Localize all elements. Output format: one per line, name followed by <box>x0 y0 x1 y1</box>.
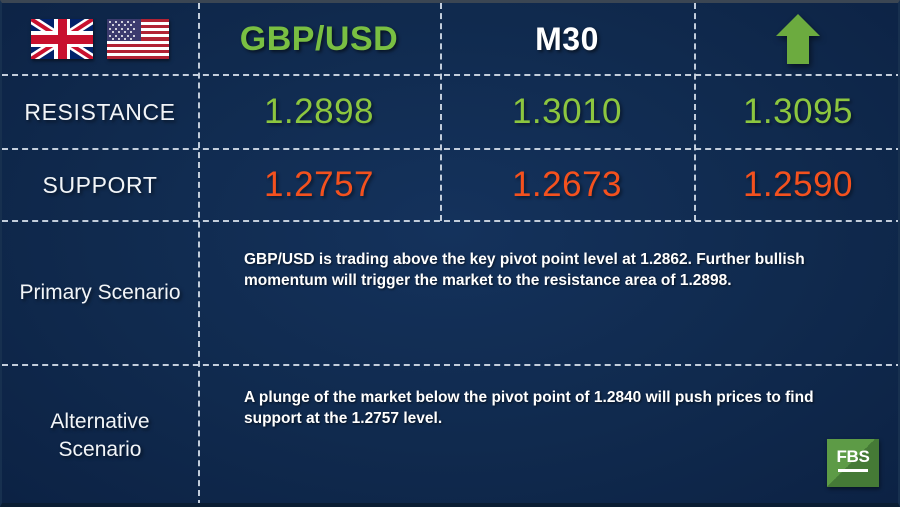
primary-scenario-text-cell: GBP/USD is trading above the key pivot p… <box>198 221 900 365</box>
resistance-value-2: 1.3010 <box>512 92 622 132</box>
support-value-1-cell: 1.2757 <box>198 149 440 221</box>
support-value-3-cell: 1.2590 <box>694 149 900 221</box>
fbs-logo-underline <box>838 469 868 472</box>
us-flag-canton <box>107 19 141 41</box>
fbs-logo-mark: FBS <box>827 448 879 472</box>
timeframe-label: M30 <box>535 21 599 58</box>
support-label-cell: SUPPORT <box>2 149 198 221</box>
alternative-scenario-label-line2: Scenario <box>59 438 142 461</box>
currency-pair-label: GBP/USD <box>240 20 398 59</box>
resistance-label-cell: RESISTANCE <box>2 75 198 149</box>
arrow-up-icon <box>775 13 821 65</box>
primary-scenario-label-cell: Primary Scenario <box>2 221 198 365</box>
fbs-logo-text: FBS <box>836 448 869 466</box>
alternative-scenario-label-cell: Alternative Scenario <box>2 365 198 506</box>
resistance-value-1-cell: 1.2898 <box>198 75 440 149</box>
support-label: SUPPORT <box>43 172 158 199</box>
support-value-1: 1.2757 <box>264 165 374 205</box>
resistance-value-3-cell: 1.3095 <box>694 75 900 149</box>
alternative-scenario-label: Alternative Scenario <box>42 408 157 464</box>
forex-signal-card: GBP/USD M30 RESISTANCE 1.2898 1.3010 1.3… <box>0 0 900 507</box>
fbs-logo: FBS <box>827 439 879 487</box>
currency-flags-cell <box>2 3 198 75</box>
primary-scenario-label: Primary Scenario <box>11 279 188 307</box>
alternative-scenario-text-cell: A plunge of the market below the pivot p… <box>198 365 900 506</box>
support-value-2: 1.2673 <box>512 165 622 205</box>
resistance-label: RESISTANCE <box>24 99 175 126</box>
trend-direction-cell <box>694 3 900 75</box>
alternative-scenario-label-line1: Alternative <box>50 410 149 433</box>
support-value-3: 1.2590 <box>743 165 853 205</box>
primary-scenario-text: GBP/USD is trading above the key pivot p… <box>244 249 816 291</box>
timeframe-cell: M30 <box>440 3 694 75</box>
united-states-flag <box>107 19 169 59</box>
resistance-value-1: 1.2898 <box>264 92 374 132</box>
currency-pair-cell: GBP/USD <box>198 3 440 75</box>
resistance-value-2-cell: 1.3010 <box>440 75 694 149</box>
alternative-scenario-text: A plunge of the market below the pivot p… <box>244 387 816 429</box>
united-kingdom-flag <box>31 19 93 59</box>
support-value-2-cell: 1.2673 <box>440 149 694 221</box>
resistance-value-3: 1.3095 <box>743 92 853 132</box>
